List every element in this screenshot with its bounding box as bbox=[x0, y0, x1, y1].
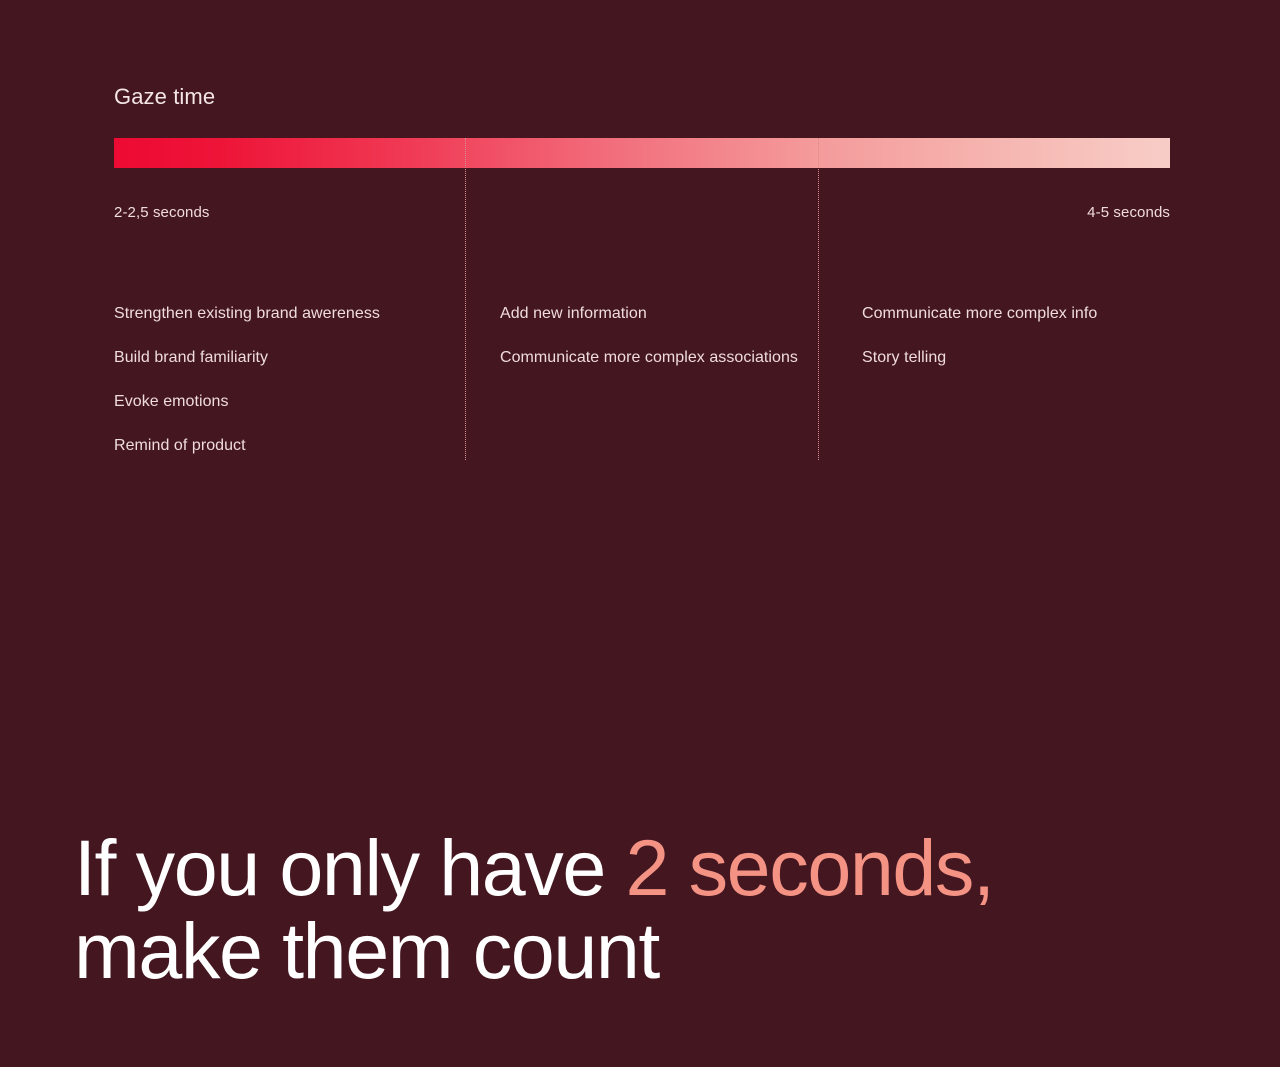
list-item: Add new information bbox=[500, 300, 800, 328]
list-item: Evoke emotions bbox=[114, 388, 444, 416]
list-item: Story telling bbox=[862, 344, 1162, 372]
list-item: Communicate more complex associations bbox=[500, 344, 800, 372]
headline-accent: 2 seconds, bbox=[626, 823, 994, 912]
range-label-max: 4-5 seconds bbox=[1087, 204, 1170, 221]
gaze-column-short: Strengthen existing brand awereness Buil… bbox=[114, 300, 444, 460]
headline: If you only have 2 seconds,make them cou… bbox=[74, 826, 1214, 992]
page-title: Gaze time bbox=[114, 84, 215, 110]
gaze-column-medium: Add new information Communicate more com… bbox=[500, 300, 800, 372]
range-label-min: 2-2,5 seconds bbox=[114, 204, 210, 221]
gaze-time-gradient-bar bbox=[114, 138, 1170, 168]
gaze-column-long: Communicate more complex info Story tell… bbox=[862, 300, 1162, 372]
list-item: Strengthen existing brand awereness bbox=[114, 300, 444, 328]
headline-part-2: make them count bbox=[74, 906, 659, 995]
list-item: Build brand familiarity bbox=[114, 344, 444, 372]
list-item: Communicate more complex info bbox=[862, 300, 1162, 328]
list-item: Remind of product bbox=[114, 432, 444, 460]
gaze-time-columns: Strengthen existing brand awereness Buil… bbox=[114, 300, 1170, 470]
headline-part-1: If you only have bbox=[74, 823, 626, 912]
